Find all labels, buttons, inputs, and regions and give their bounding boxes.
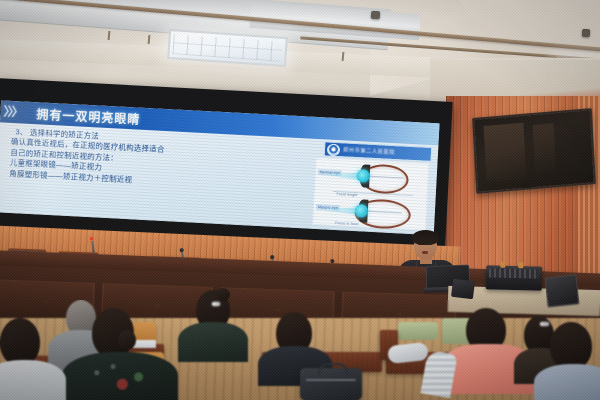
chevron-right-icon: 〉〉〉 xyxy=(3,105,22,120)
diagram-caption: Focus in front xyxy=(335,221,359,226)
mixer-faders xyxy=(489,268,539,278)
attendee-head xyxy=(550,322,592,370)
presentation-slide: 〉〉〉 拥有一双明亮眼睛 3、 选择科学的矫正方法 确认真性近视后，在正规的医疗… xyxy=(0,100,440,235)
attendee-hair-bun xyxy=(118,330,136,350)
attendee-hair-bun xyxy=(216,288,230,301)
mixer-knob[interactable] xyxy=(518,262,523,268)
normal-eye-figure: Normal eye xyxy=(315,158,428,195)
projection-surface: 〉〉〉 拥有一双明亮眼睛 3、 选择科学的矫正方法 确认真性近视后，在正规的医疗… xyxy=(0,100,440,235)
wall-mounted-display[interactable] xyxy=(472,108,596,194)
hair-clip xyxy=(212,302,220,306)
handbag[interactable] xyxy=(300,368,362,400)
presenter-eye xyxy=(428,243,432,245)
lecture-hall-photo: 〉〉〉 拥有一双明亮眼睛 3、 选择科学的矫正方法 确认真性近视后，在正规的医疗… xyxy=(0,0,600,400)
attendee-shoulders xyxy=(178,322,248,362)
bag-handle xyxy=(318,363,348,375)
attendee-shoulders xyxy=(0,360,66,400)
presenter-hair xyxy=(412,230,439,245)
attendee-shoulders xyxy=(62,352,178,400)
av-monitor-right[interactable] xyxy=(545,274,580,307)
tv-reflection xyxy=(484,123,526,182)
mixer-knob[interactable] xyxy=(500,262,505,268)
tv-mount xyxy=(520,183,532,189)
hospital-eye-logo-icon xyxy=(327,143,341,156)
attendee-head xyxy=(0,318,40,366)
auditorium-seat-green[interactable] xyxy=(398,322,438,340)
attendee-blue-shirt xyxy=(534,364,600,400)
hair-clip xyxy=(540,322,549,326)
tv-reflection xyxy=(533,123,557,175)
projection-screen: 〉〉〉 拥有一双明亮眼睛 3、 选择科学的矫正方法 确认真性近视后，在正规的医疗… xyxy=(0,78,453,254)
presenter-mouth xyxy=(422,251,428,254)
presenter-eye xyxy=(418,243,422,245)
hospital-name: 郑州市第二人民医院 xyxy=(343,146,395,156)
ceiling-speaker-icon xyxy=(582,29,591,38)
av-monitor-left[interactable] xyxy=(451,279,475,300)
slide-body-text: 3、 选择科学的矫正方法 确认真性近视后，在正规的医疗机构选择适合 自己的矫正和… xyxy=(9,127,241,191)
audio-mixer[interactable] xyxy=(486,265,543,290)
slide-title: 拥有一双明亮眼睛 xyxy=(36,105,141,127)
bag-zipper xyxy=(306,379,356,381)
ceiling-speaker-icon xyxy=(371,11,381,20)
eye-diagram-panel: Normal eye Focal length Myopic eye xyxy=(312,157,429,231)
myopic-eye-figure: Myopic eye xyxy=(313,193,426,230)
